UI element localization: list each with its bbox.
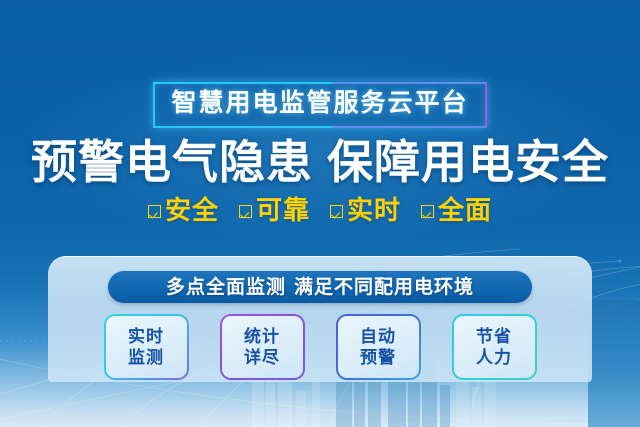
headline-left: 预警电气隐患 bbox=[31, 136, 313, 188]
page-title: 预警电气隐患保障用电安全 bbox=[0, 138, 640, 186]
banner-text-right: 满足不同配用电环境 bbox=[294, 277, 474, 298]
banner-text-left: 多点全面监测 bbox=[166, 277, 286, 298]
card-1-line1: 统计 bbox=[244, 327, 280, 347]
background-right-band bbox=[588, 300, 640, 427]
check-label-3: 全面 bbox=[438, 197, 492, 223]
feature-card-row: 实时 监测 统计 详尽 自动 预警 节省 人力 bbox=[48, 314, 592, 382]
check-item-1: 可靠 bbox=[239, 197, 310, 223]
feature-card-detailed-statistics[interactable]: 统计 详尽 bbox=[220, 314, 305, 380]
check-item-2: 实时 bbox=[330, 197, 401, 223]
subtitle-text: 智慧用电监管服务云平台 bbox=[171, 88, 468, 119]
checkbox-icon bbox=[421, 205, 434, 218]
feature-card-save-manpower[interactable]: 节省 人力 bbox=[452, 314, 537, 380]
card-inner: 自动 预警 bbox=[338, 316, 419, 378]
check-label-0: 安全 bbox=[165, 197, 219, 223]
card-3-line2: 人力 bbox=[476, 348, 512, 368]
headline-right: 保障用电安全 bbox=[327, 136, 609, 188]
subtitle-box: 智慧用电监管服务云平台 bbox=[153, 82, 486, 128]
poster-canvas: 智慧用电监管服务云平台 预警电气隐患保障用电安全 安全 可靠 实时 全面 多点全… bbox=[0, 0, 640, 427]
checkbox-icon bbox=[239, 205, 252, 218]
checkbox-icon bbox=[148, 205, 161, 218]
feature-check-row: 安全 可靠 实时 全面 bbox=[0, 197, 640, 223]
card-inner: 统计 详尽 bbox=[222, 316, 303, 378]
card-2-line1: 自动 bbox=[360, 327, 396, 347]
feature-card-auto-alarm[interactable]: 自动 预警 bbox=[336, 314, 421, 380]
check-item-0: 安全 bbox=[148, 197, 219, 223]
card-inner: 节省 人力 bbox=[454, 316, 535, 378]
card-0-line1: 实时 bbox=[128, 327, 164, 347]
card-2-line2: 预警 bbox=[360, 348, 396, 368]
card-1-line2: 详尽 bbox=[244, 348, 280, 368]
feature-card-realtime-monitoring[interactable]: 实时 监测 bbox=[104, 314, 189, 380]
banner-pill: 多点全面监测满足不同配用电环境 bbox=[108, 271, 532, 303]
check-item-3: 全面 bbox=[421, 197, 492, 223]
checkbox-icon bbox=[330, 205, 343, 218]
check-label-2: 实时 bbox=[347, 197, 401, 223]
check-label-1: 可靠 bbox=[256, 197, 310, 223]
banner-text: 多点全面监测满足不同配用电环境 bbox=[166, 278, 474, 297]
card-3-line1: 节省 bbox=[476, 327, 512, 347]
card-inner: 实时 监测 bbox=[106, 316, 187, 378]
card-0-line2: 监测 bbox=[128, 348, 164, 368]
subtitle-container: 智慧用电监管服务云平台 bbox=[0, 82, 640, 128]
